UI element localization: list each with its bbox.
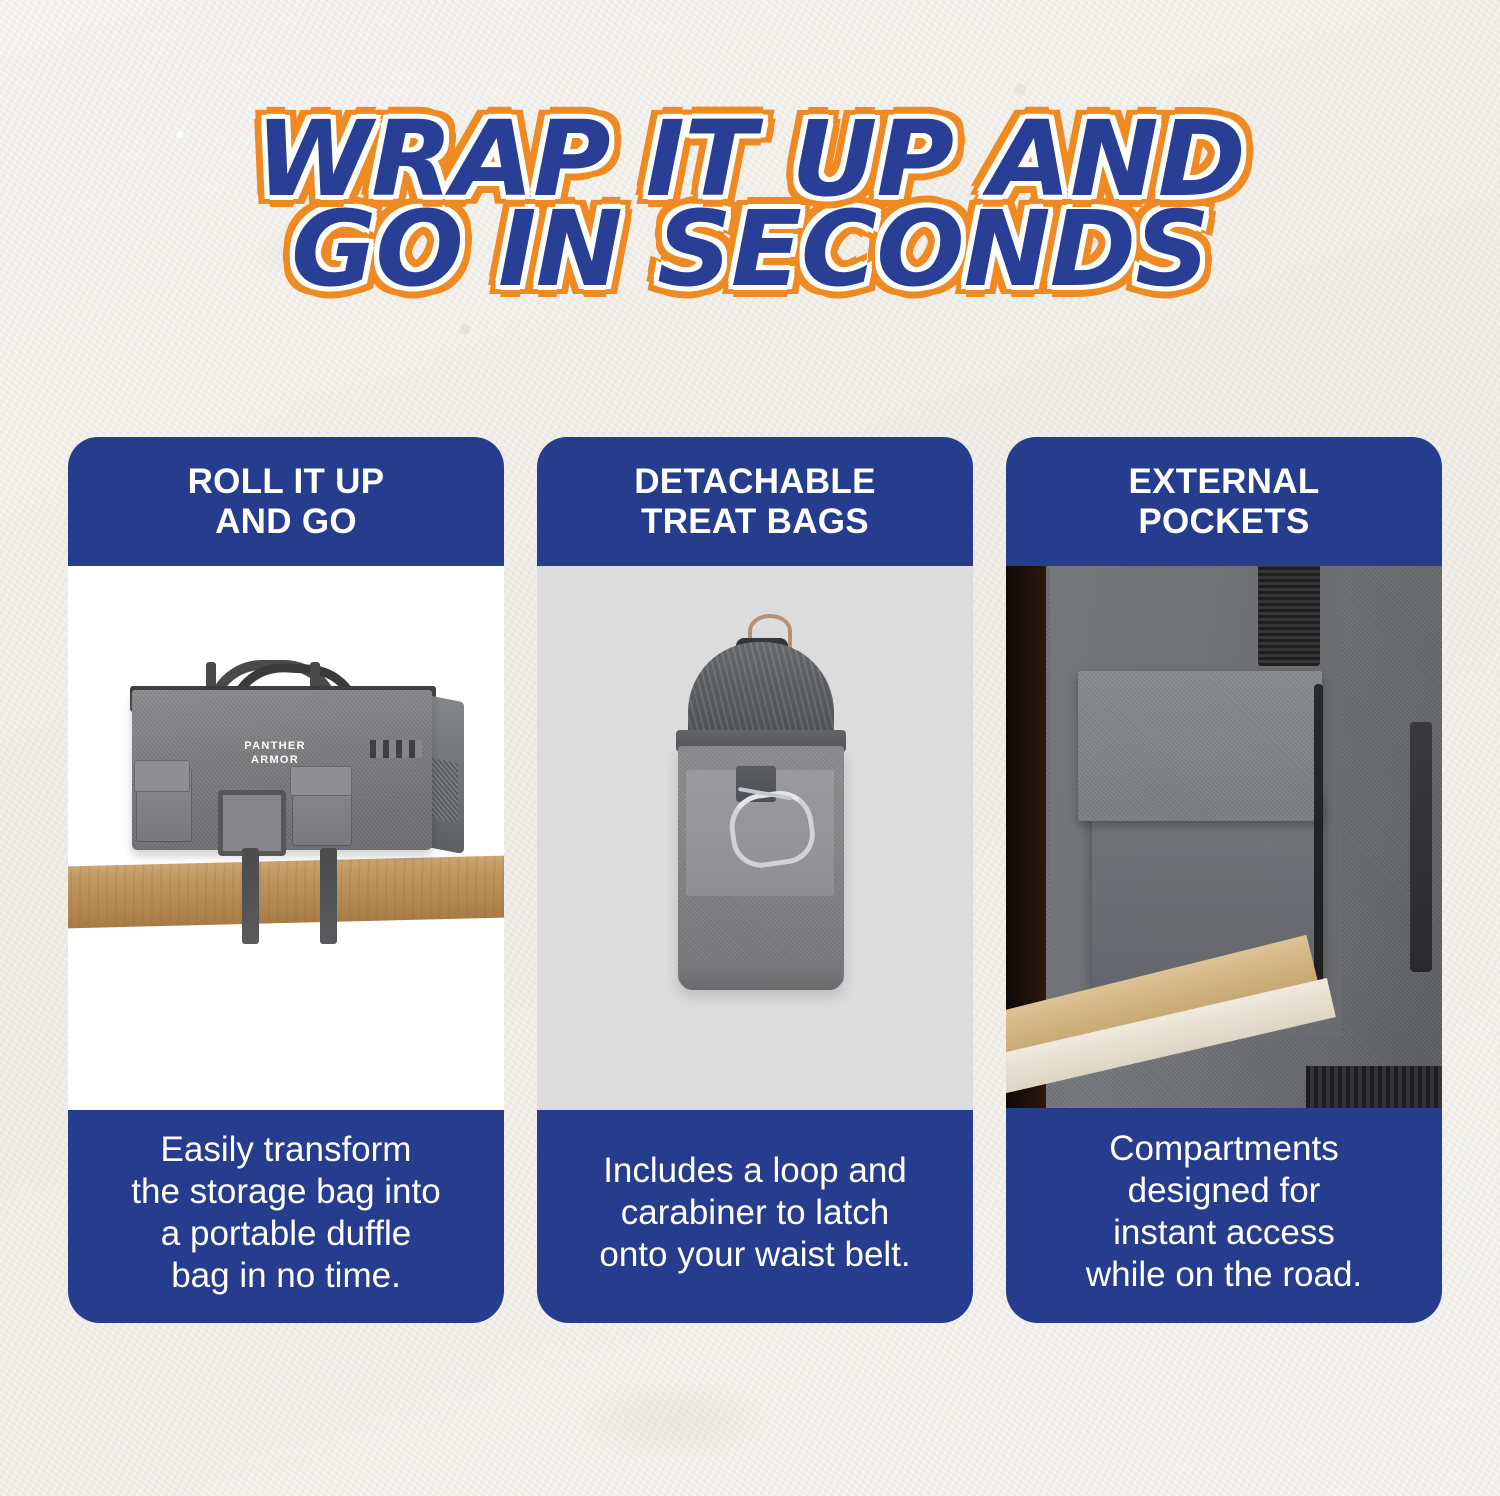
card-caption-roll-it-up: Easily transform the storage bag into a … <box>68 1110 504 1323</box>
caption-line: Compartments <box>1109 1129 1339 1168</box>
card-photo-tote-bag: PANTHER ARMOR <box>68 566 504 1110</box>
card-title-line-2: TREAT BAGS <box>641 502 869 541</box>
card-title-line-1: DETACHABLE <box>634 462 876 501</box>
treat-bag-illustration <box>670 602 848 1022</box>
caption-line: designed for <box>1128 1171 1321 1210</box>
caption-line: instant access <box>1113 1213 1335 1252</box>
card-photo-external-pockets <box>1006 566 1442 1108</box>
card-title-line-2: POCKETS <box>1138 502 1309 541</box>
feature-card-row: ROLL IT UP AND GO <box>68 437 1442 1323</box>
card-title-line-1: EXTERNAL <box>1128 462 1319 501</box>
brand-logo-line-2: ARMOR <box>251 754 299 766</box>
card-caption-external-pockets: Compartments designed for instant access… <box>1006 1108 1442 1323</box>
card-title-external-pockets: EXTERNAL POCKETS <box>1006 437 1442 566</box>
caption-line: bag in no time. <box>171 1256 401 1295</box>
molle-webbing <box>370 740 422 758</box>
caption-line: onto your waist belt. <box>599 1235 910 1274</box>
headline-line-1: WRAP IT UP AND <box>0 112 1500 208</box>
pocket-flap <box>1078 671 1322 821</box>
card-caption-detachable-treat-bags: Includes a loop and carabiner to latch o… <box>537 1110 973 1323</box>
caption-line: a portable duffle <box>161 1214 411 1253</box>
tote-pocket-right-flap <box>290 766 352 796</box>
tote-window-pocket <box>218 790 286 856</box>
card-title-detachable-treat-bags: DETACHABLE TREAT BAGS <box>537 437 973 566</box>
tote-hanging-strap-right <box>320 848 337 944</box>
feature-card-roll-it-up: ROLL IT UP AND GO <box>68 437 504 1323</box>
drawstring-top <box>688 642 834 744</box>
caption-line: Easily transform <box>161 1130 412 1169</box>
card-title-line-1: ROLL IT UP <box>188 462 385 501</box>
card-title-line-2: AND GO <box>215 502 357 541</box>
card-title-roll-it-up: ROLL IT UP AND GO <box>68 437 504 566</box>
brand-logo-line-1: PANTHER <box>244 740 305 752</box>
wooden-beam <box>68 856 504 929</box>
webbing-strap <box>1258 566 1320 666</box>
caption-line: the storage bag into <box>131 1172 440 1211</box>
feature-card-external-pockets: EXTERNAL POCKETS Compartments <box>1006 437 1442 1323</box>
caption-line: Includes a loop and <box>603 1151 907 1190</box>
caption-line: carabiner to latch <box>621 1193 889 1232</box>
tote-pocket-left-flap <box>134 760 190 792</box>
zipper-pull <box>1314 684 1323 1014</box>
feature-card-detachable-treat-bags: DETACHABLE TREAT BAGS <box>537 437 973 1323</box>
velcro-strip <box>1410 722 1432 972</box>
card-photo-treat-bag <box>537 566 973 1110</box>
tote-hanging-strap-left <box>242 848 259 944</box>
brand-logo: PANTHER ARMOR <box>220 740 330 768</box>
tote-bag-illustration: PANTHER ARMOR <box>132 662 442 852</box>
treat-bag-base <box>680 962 842 990</box>
caption-line: while on the road. <box>1086 1255 1362 1294</box>
page-headline: WRAP IT UP AND GO IN SECONDS <box>0 112 1500 297</box>
bottom-webbing <box>1306 1066 1442 1108</box>
